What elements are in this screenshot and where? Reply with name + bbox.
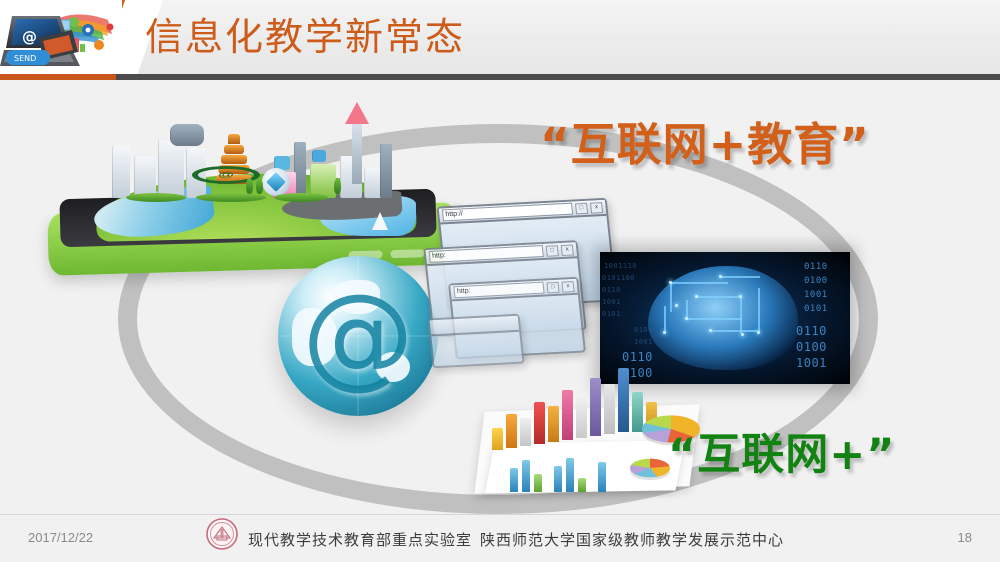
tv-tower: [352, 118, 362, 184]
building: [112, 146, 130, 198]
chart-bar-green: [534, 474, 542, 492]
presentation-slide: @ SEND 信息化教学新常态: [0, 0, 1000, 562]
chart-bar-blue: [566, 458, 574, 492]
binary-label: 0110: [622, 350, 653, 364]
address-bar[interactable]: http://: [442, 203, 573, 222]
chart-bar: [492, 428, 503, 450]
headline-internet-plus-education: “互联网+教育”: [540, 108, 870, 173]
chart-bar-blue: [510, 468, 518, 492]
footer-center-name: 陕西师范大学国家级教师教学发展示范中心: [480, 529, 784, 550]
logo-send-label: SEND: [14, 54, 36, 63]
browser-titlebar: http: □ x: [450, 279, 578, 302]
pagoda-tier: [221, 155, 247, 164]
binary-label: 0110: [804, 262, 828, 272]
building: [158, 140, 184, 198]
slide-footer: 2017/12/22 现代教学技术教育部重点实验室 陕西师范大学国家级教师教学发…: [0, 514, 1000, 562]
browser-window-small: [427, 314, 524, 369]
chart-bar: [534, 402, 545, 444]
building: [134, 156, 156, 198]
close-icon[interactable]: x: [590, 202, 603, 214]
crystal-orb-icon: [262, 168, 290, 196]
tree: [246, 178, 253, 194]
chart-bar-green: [578, 478, 586, 492]
binary-label: 0110: [602, 286, 621, 294]
tree: [334, 178, 341, 194]
chart-bar: [506, 414, 517, 448]
digital-circuit-brain-image: 0110 0100 1001 0101 0110 0100 1001 10011…: [600, 252, 850, 384]
chart-bar-blue: [554, 466, 562, 492]
svg-text:@: @: [22, 28, 37, 46]
bush: [126, 193, 186, 202]
pagoda-top: [228, 134, 240, 144]
binary-label: 1001: [796, 356, 827, 370]
bush: [196, 193, 266, 202]
binary-label: 0110: [796, 324, 827, 338]
chart-bar: [562, 390, 573, 440]
chart-bar: [548, 406, 559, 442]
chart-pie-small: [630, 459, 670, 478]
sailboat-icon: [372, 212, 388, 230]
footer-lab-name: 现代教学技术教育部重点实验室: [248, 529, 472, 550]
tree: [256, 178, 263, 194]
bush: [274, 193, 328, 202]
slide-body: @ http:// □ x http: □ x http: □ x: [0, 84, 1000, 514]
binary-label: 0101: [804, 304, 828, 314]
building-sign: [312, 150, 326, 162]
slide-header: @ SEND 信息化教学新常态: [0, 0, 1000, 80]
laptop-multimedia-icon: @ SEND: [0, 0, 122, 74]
binary-label: 1001: [634, 338, 653, 346]
chart-bar: [576, 394, 587, 438]
footer-page-number: 18: [958, 530, 972, 545]
chart-bar: [618, 368, 629, 432]
binary-label: 1001: [804, 290, 828, 300]
city-scene: [96, 112, 416, 238]
pagoda-tier: [224, 145, 244, 154]
university-seal-icon: [206, 518, 238, 550]
chart-bar: [604, 384, 615, 434]
globe-at-glyph: @: [278, 256, 438, 416]
close-icon[interactable]: x: [561, 244, 574, 256]
binary-label: 0100: [634, 326, 653, 334]
chart-bar: [590, 378, 601, 436]
address-bar[interactable]: http:: [429, 245, 544, 263]
tower-spire: [345, 102, 369, 124]
browser-titlebar: [430, 316, 520, 337]
globe-at-symbol-illustration: @: [278, 256, 438, 416]
chart-bar: [520, 418, 531, 446]
header-rule-orange: [0, 74, 116, 80]
close-icon[interactable]: x: [561, 281, 574, 293]
chart-bar-blue: [598, 462, 606, 492]
address-bar[interactable]: http:: [453, 282, 544, 299]
footer-date: 2017/12/22: [28, 530, 93, 545]
building-dome: [170, 124, 204, 146]
headline-internet-plus: “互联网+”: [668, 420, 896, 482]
footer-divider: [0, 514, 1000, 515]
header-logo: @ SEND: [0, 0, 122, 74]
chart-bar-blue: [522, 460, 530, 492]
minimize-icon[interactable]: □: [575, 202, 588, 214]
binary-label: 0100: [804, 276, 828, 286]
binary-label: 1001: [602, 298, 621, 306]
minimize-icon[interactable]: □: [546, 281, 559, 293]
binary-label: 0101100: [602, 274, 635, 282]
binary-label: 0101: [602, 310, 621, 318]
building: [380, 144, 392, 198]
page-title: 信息化教学新常态: [145, 12, 465, 62]
minimize-icon[interactable]: □: [546, 245, 559, 257]
header-rule-dark: [116, 74, 1000, 80]
binary-label: 1001110: [604, 262, 637, 270]
binary-label: 0100: [796, 340, 827, 354]
